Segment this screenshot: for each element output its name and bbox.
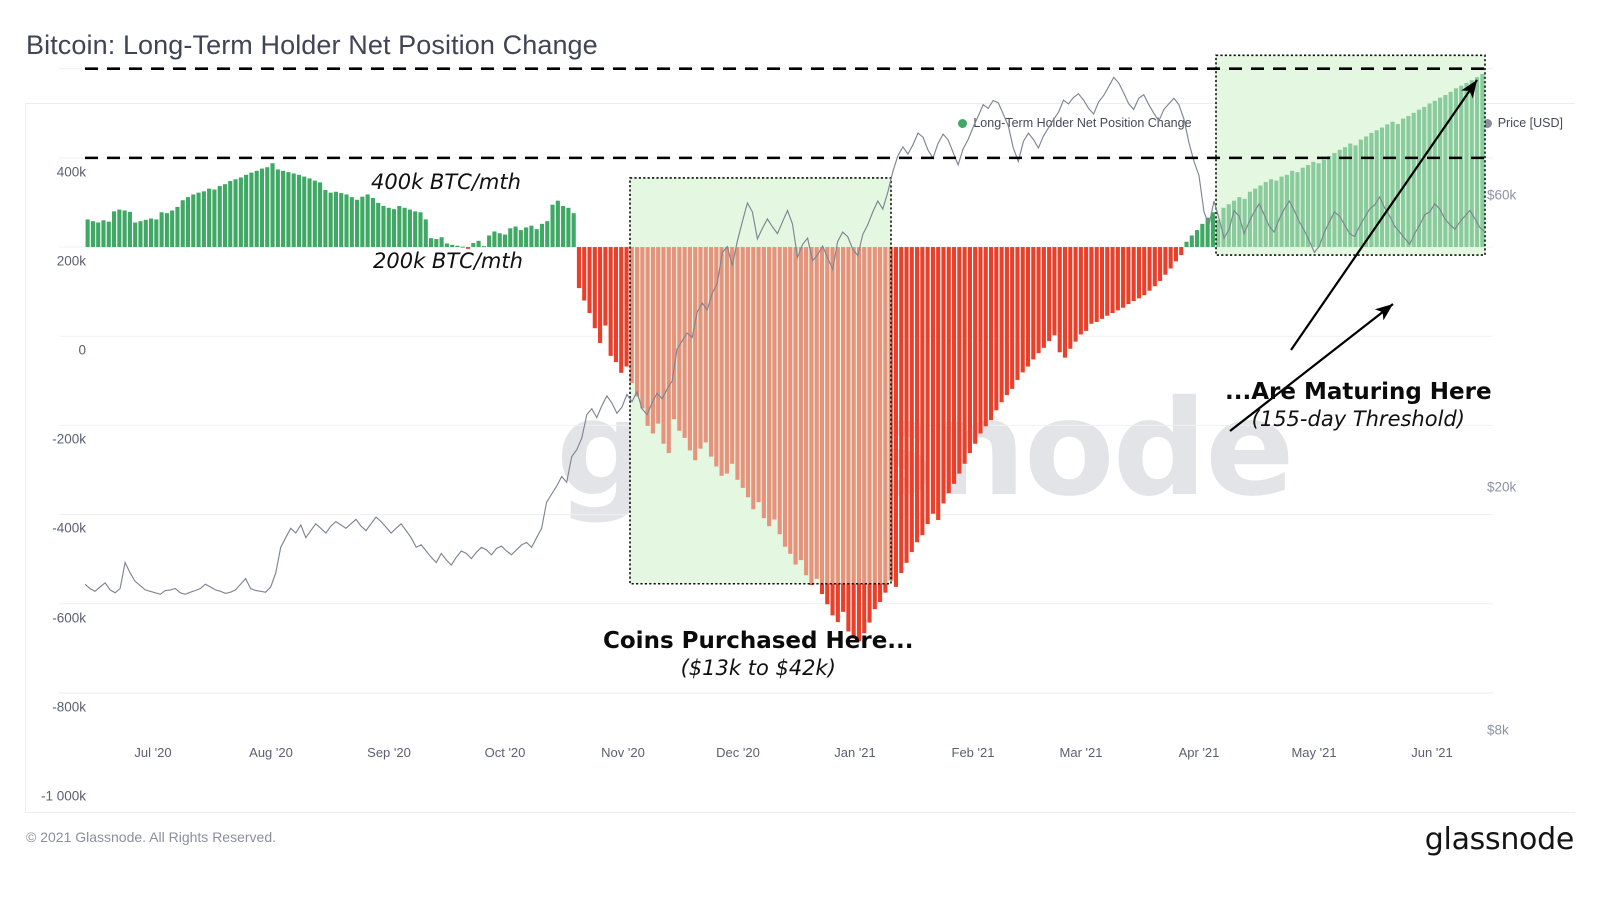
chart-canvas [59,18,1493,720]
bar [424,219,428,247]
x-tick-label: May '21 [1291,745,1336,760]
bar [508,228,512,247]
bar [281,171,285,247]
bar [957,247,961,474]
bar [1116,247,1120,310]
bar [556,201,560,247]
bar [529,226,533,247]
bar [984,247,988,426]
callout-maturing-main: ...Are Maturing Here [1225,379,1492,406]
bar [941,247,945,503]
bar [138,221,142,247]
bar [339,193,343,247]
bar [202,191,206,247]
bar [1163,247,1167,275]
bar [392,209,396,247]
callout-coins-purchased: Coins Purchased Here... ($13k to $42k) [603,628,914,681]
bar [593,247,597,328]
bar [487,235,491,247]
bar [144,220,148,247]
bar [952,247,956,484]
callout-coins-maturing: ...Are Maturing Here (155-day Threshold) [1225,379,1492,432]
bar [434,239,438,247]
bar [1142,247,1146,295]
bar [503,235,507,247]
x-tick-label: Aug '20 [249,745,293,760]
bar [292,173,296,247]
bar [1100,247,1104,319]
price-tick-label: $8k [1487,723,1509,738]
bar [1068,247,1072,349]
bar [207,189,211,247]
bar [413,211,417,247]
bar [1211,212,1215,247]
bar [514,227,518,248]
x-tick-label: Nov '20 [601,745,645,760]
bar [619,247,623,373]
bar [947,247,951,493]
bar [181,200,185,247]
bar [149,219,153,248]
bar [1058,247,1062,352]
bar [107,222,111,247]
bar [455,246,459,247]
bar [1132,247,1136,301]
bar [519,230,523,247]
bar [1126,247,1130,304]
coins-maturing-box [1216,55,1485,255]
bar [286,172,290,247]
bar [1084,247,1088,331]
bar [1063,247,1067,358]
bar [904,247,908,563]
chart-page: Bitcoin: Long-Term Holder Net Position C… [0,0,1600,900]
bar [244,175,248,247]
bar [276,169,280,247]
bar [307,178,311,247]
bar [154,219,158,247]
bar [915,247,919,542]
bar [587,247,591,313]
x-tick-label: Oct '20 [485,745,526,760]
bar [1026,247,1030,367]
bar [577,247,581,288]
bar [403,208,407,247]
glassnode-logo: glassnode [1425,822,1574,857]
bar [371,198,375,247]
bar [1037,247,1041,353]
bar [1047,247,1051,341]
bar [86,219,90,247]
bar [318,182,322,247]
bar [387,208,391,247]
bar [926,247,930,524]
copyright-text: © 2021 Glassnode. All Rights Reserved. [26,829,276,845]
bar [535,229,539,247]
bar [1005,247,1009,395]
bar [234,179,238,247]
bar [366,194,370,247]
bar [101,220,105,247]
bar [894,247,898,587]
bar [265,167,269,247]
bar [471,243,475,247]
bar [561,206,565,247]
bar [160,212,164,247]
bar [1184,242,1188,247]
bar [920,247,924,535]
bar [1074,247,1078,342]
x-tick-label: Dec '20 [716,745,760,760]
bar [1010,247,1014,389]
bar [239,177,243,247]
bar [112,211,116,247]
bar [360,197,364,247]
bar [1105,247,1109,316]
bar [223,184,227,247]
bar [376,203,380,247]
x-axis: Jul '20Aug '20Sep '20Oct '20Nov '20Dec '… [0,745,1600,771]
bar [381,206,385,247]
threshold-label-200k: 200k BTC/mth [373,249,523,273]
y-axis-right: $60k$20k$8k [1487,103,1577,811]
bar [1174,247,1178,261]
bar [1121,247,1125,308]
bar [572,213,576,247]
bar [329,193,333,247]
bar [1137,247,1141,298]
bar [603,247,607,325]
bar [255,171,259,247]
x-tick-label: Feb '21 [952,745,995,760]
bar [218,186,222,247]
plot-area [59,18,1493,720]
bar [624,247,628,367]
bar [260,169,264,247]
x-tick-label: Jun '21 [1411,745,1453,760]
bar [344,194,348,247]
bar [989,247,993,420]
bar [1015,247,1019,380]
bar [931,247,935,514]
bar [1021,247,1025,372]
bar [133,223,137,248]
bar [128,212,132,247]
bar [117,210,121,247]
x-tick-label: Jul '20 [134,745,171,760]
bar [429,238,433,247]
bar [96,223,100,248]
callout-purchased-sub: ($13k to $42k) [603,655,914,681]
bar [994,247,998,410]
bar [1200,224,1204,247]
bar [350,197,354,247]
bar [482,246,486,247]
bar [1052,247,1056,335]
bar [1158,247,1162,281]
bar [899,247,903,573]
bar [1095,247,1099,322]
bar [968,247,972,453]
bar [477,241,481,247]
bar [550,205,554,247]
x-tick-label: Apr '21 [1179,745,1220,760]
bar [450,245,454,247]
bar [1042,247,1046,348]
bar [1000,247,1004,402]
bar [1190,235,1194,247]
bar [498,233,502,247]
bar [1079,247,1083,334]
bar [418,212,422,247]
bar [170,210,174,247]
bar [397,206,401,247]
bar [123,210,127,247]
bar [1195,230,1199,247]
bar [1153,247,1157,286]
bar [323,190,327,247]
bar [545,221,549,247]
bar [440,237,444,247]
bar [1089,247,1093,324]
bar [228,181,232,247]
bar [1031,247,1035,359]
bar [313,181,317,247]
coins-purchased-box [630,178,891,584]
y-tick-label: -1 000k [41,789,86,804]
bar [165,213,169,247]
bar [540,224,544,247]
bar [197,193,201,247]
x-tick-label: Mar '21 [1060,745,1103,760]
bar [973,247,977,444]
bar [910,247,914,552]
bar [1110,247,1114,313]
bar [186,197,190,247]
bar [408,210,412,247]
bar [1179,247,1183,255]
bar [936,247,940,520]
bar [355,200,359,247]
bar [302,177,306,247]
footer-divider [25,812,1575,813]
bar [582,247,586,301]
bar [614,247,618,362]
bar [270,163,274,247]
bar [249,173,253,247]
callout-purchased-main: Coins Purchased Here... [603,628,914,655]
threshold-label-400k: 400k BTC/mth [371,170,521,194]
bar [609,247,613,356]
bar [566,208,570,247]
bar [461,247,465,248]
bar [492,231,496,247]
bar [334,192,338,247]
callout-maturing-sub: (155-day Threshold) [1225,406,1492,432]
bar [524,227,528,247]
bar [1169,247,1173,268]
bar [445,243,449,247]
bar [212,190,216,248]
x-tick-label: Jan '21 [834,745,876,760]
bar [1147,247,1151,291]
bar [91,221,95,247]
bar [963,247,967,464]
bar [978,247,982,433]
bar [175,207,179,247]
x-tick-label: Sep '20 [367,745,411,760]
bar [191,194,195,247]
bar [598,247,602,343]
bar [297,175,301,247]
